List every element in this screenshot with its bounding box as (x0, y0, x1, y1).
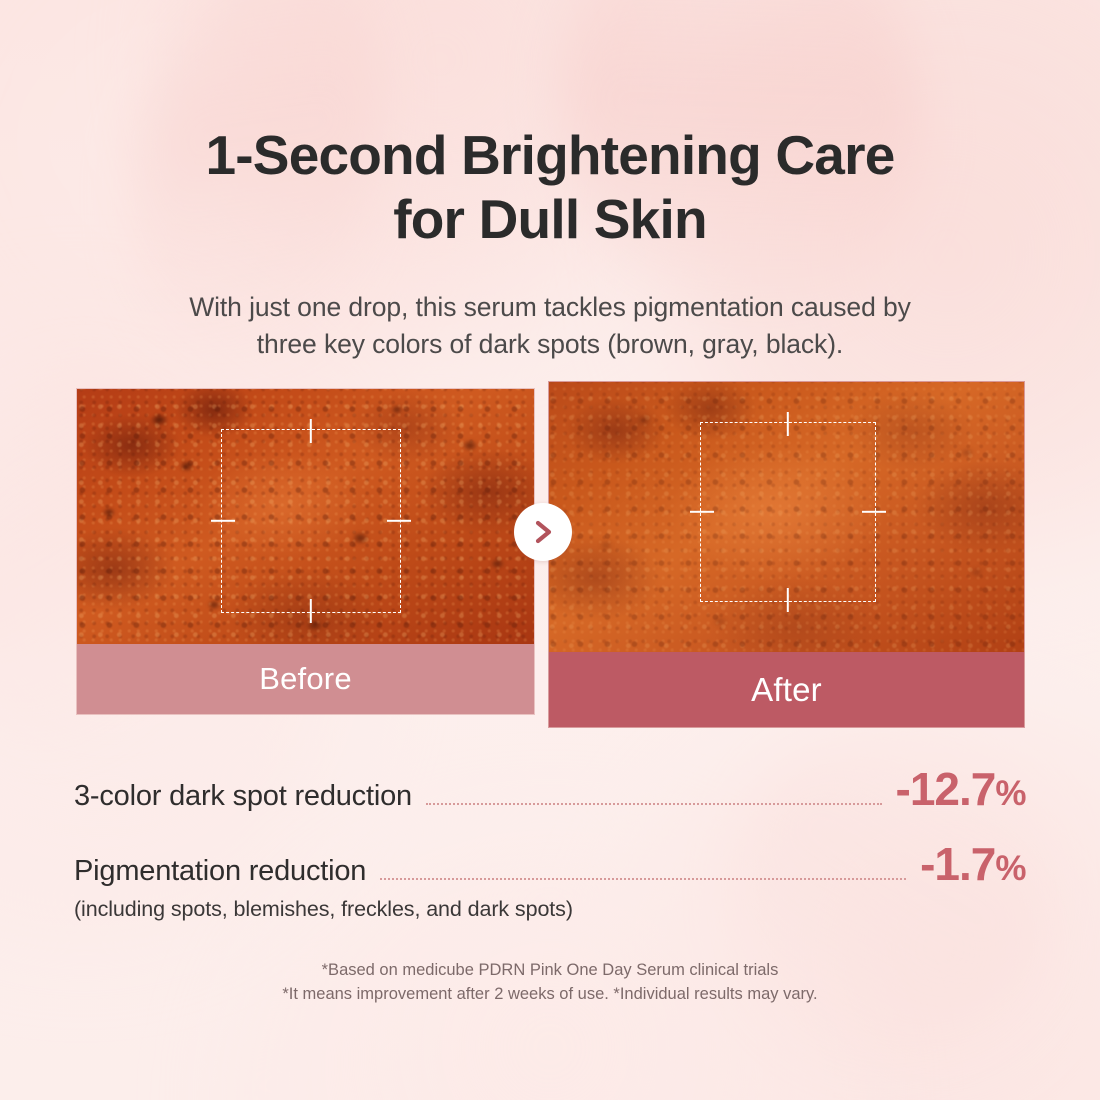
crosshair-tick-right (862, 511, 886, 513)
stat-value-number: -1.7 (920, 838, 995, 890)
stat-row-dark-spot-reduction: 3-color dark spot reduction -12.7% (74, 762, 1026, 816)
measurement-region-box (700, 422, 876, 602)
disclaimer-line-1: *Based on medicube PDRN Pink One Day Ser… (0, 958, 1100, 982)
stat-row-pigmentation-reduction: Pigmentation reduction -1.7% (74, 837, 1026, 891)
stat-leader-dots (380, 877, 906, 880)
after-label-bar: After (549, 652, 1024, 727)
stat-label: 3-color dark spot reduction (74, 780, 412, 813)
before-label-text: Before (259, 661, 352, 697)
crosshair-tick-right (387, 520, 411, 522)
stat-value-unit: % (995, 849, 1026, 888)
stat-value-number: -12.7 (896, 763, 996, 815)
crosshair-tick-bottom (787, 588, 789, 612)
stat-note-pigmentation: (including spots, blemishes, freckles, a… (74, 897, 1026, 922)
page-subtitle-line-1: With just one drop, this serum tackles p… (0, 289, 1100, 327)
stat-leader-dots (426, 802, 882, 805)
page-title-line-1: 1-Second Brightening Care (0, 123, 1100, 187)
crosshair-tick-left (690, 511, 714, 513)
page-title-line-2: for Dull Skin (0, 187, 1100, 251)
page-subtitle: With just one drop, this serum tackles p… (0, 289, 1100, 364)
measurement-region-box (221, 429, 401, 613)
stat-label: Pigmentation reduction (74, 855, 366, 888)
promo-page: 1-Second Brightening Care for Dull Skin … (0, 0, 1100, 1100)
before-panel[interactable]: Before (76, 388, 535, 715)
after-panel[interactable]: After (548, 381, 1025, 728)
disclaimer-line-2: *It means improvement after 2 weeks of u… (0, 982, 1100, 1006)
disclaimer: *Based on medicube PDRN Pink One Day Ser… (0, 958, 1100, 1007)
crosshair-tick-left (211, 520, 235, 522)
chevron-right-icon[interactable] (514, 503, 572, 561)
crosshair-tick-top (310, 419, 312, 443)
page-title: 1-Second Brightening Care for Dull Skin (0, 123, 1100, 252)
crosshair-tick-top (787, 412, 789, 436)
before-label-bar: Before (77, 644, 534, 714)
stat-value: -12.7% (896, 762, 1026, 816)
stat-value: -1.7% (920, 837, 1026, 891)
after-skin-image (549, 382, 1024, 654)
crosshair-tick-bottom (310, 599, 312, 623)
page-subtitle-line-2: three key colors of dark spots (brown, g… (0, 326, 1100, 364)
clinical-results-list: 3-color dark spot reduction -12.7% Pigme… (74, 762, 1026, 922)
stat-value-unit: % (995, 774, 1026, 813)
after-label-text: After (751, 671, 822, 709)
before-skin-image (77, 389, 534, 646)
